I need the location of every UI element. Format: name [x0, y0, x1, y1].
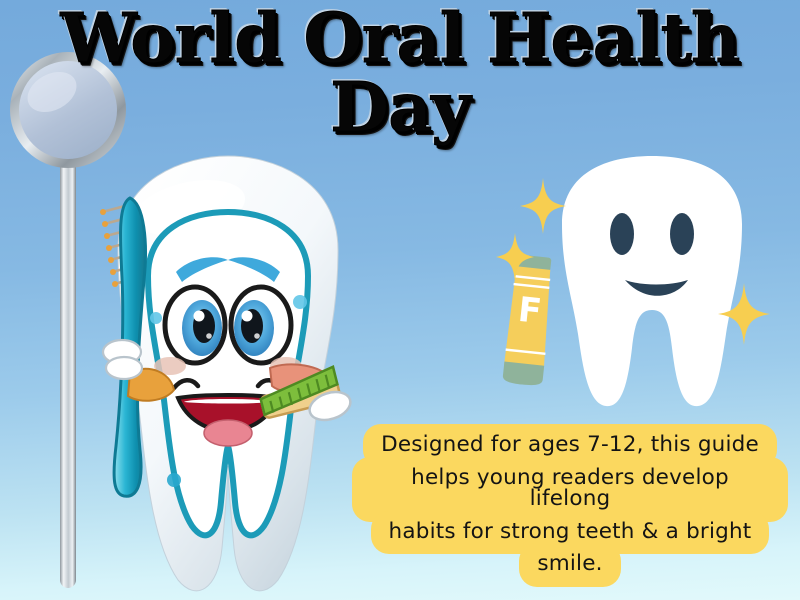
flat-tooth-mascot [552, 152, 752, 412]
poster-canvas: F World Oral Health Day Designed for age… [0, 0, 800, 600]
toothpaste-label: F [516, 290, 543, 332]
caption-line-text: smile. [519, 543, 620, 587]
sparkle-icon [496, 233, 534, 281]
cartoon-tooth-character [78, 150, 378, 600]
caption-box: Designed for ages 7-12, this guide helps… [352, 424, 788, 587]
sparkle-icon [520, 178, 566, 234]
sparkle-icon [718, 283, 770, 345]
